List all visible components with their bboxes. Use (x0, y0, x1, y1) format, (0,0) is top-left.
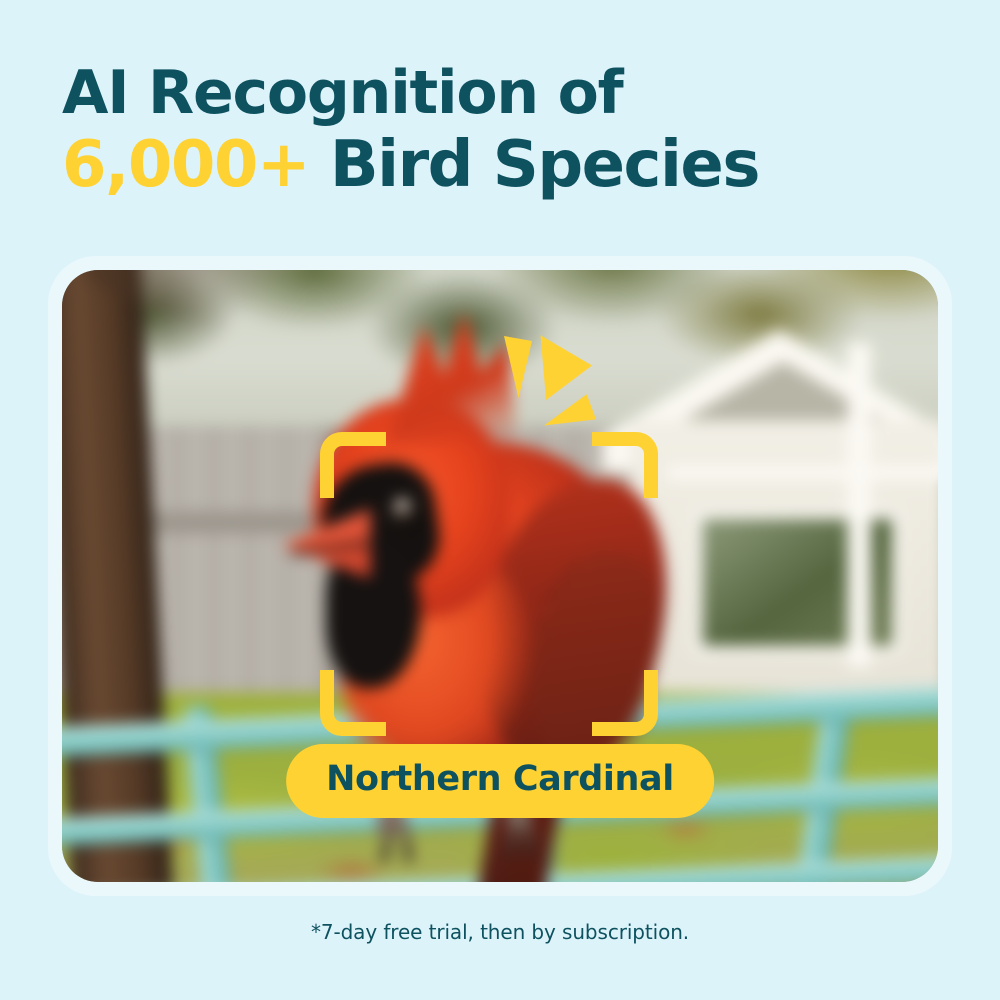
photo-card: Northern Cardinal (48, 256, 952, 896)
headline-line-1: AI Recognition of (62, 58, 942, 128)
species-label-pill: Northern Cardinal (286, 744, 714, 818)
headline-line-2-rest: Bird Species (330, 128, 759, 202)
page-title: AI Recognition of 6,000+ Bird Species (62, 58, 942, 203)
footnote-text: *7-day free trial, then by subscription. (0, 920, 1000, 944)
photo-frame: Northern Cardinal (62, 270, 938, 882)
bird-claw (399, 813, 412, 863)
species-count: 6,000+ (62, 128, 309, 202)
headline-line-2: 6,000+ Bird Species (62, 128, 942, 203)
house-mullion-vertical (847, 342, 871, 666)
bird-eye-glint (396, 500, 408, 512)
bird-crest (376, 312, 519, 443)
